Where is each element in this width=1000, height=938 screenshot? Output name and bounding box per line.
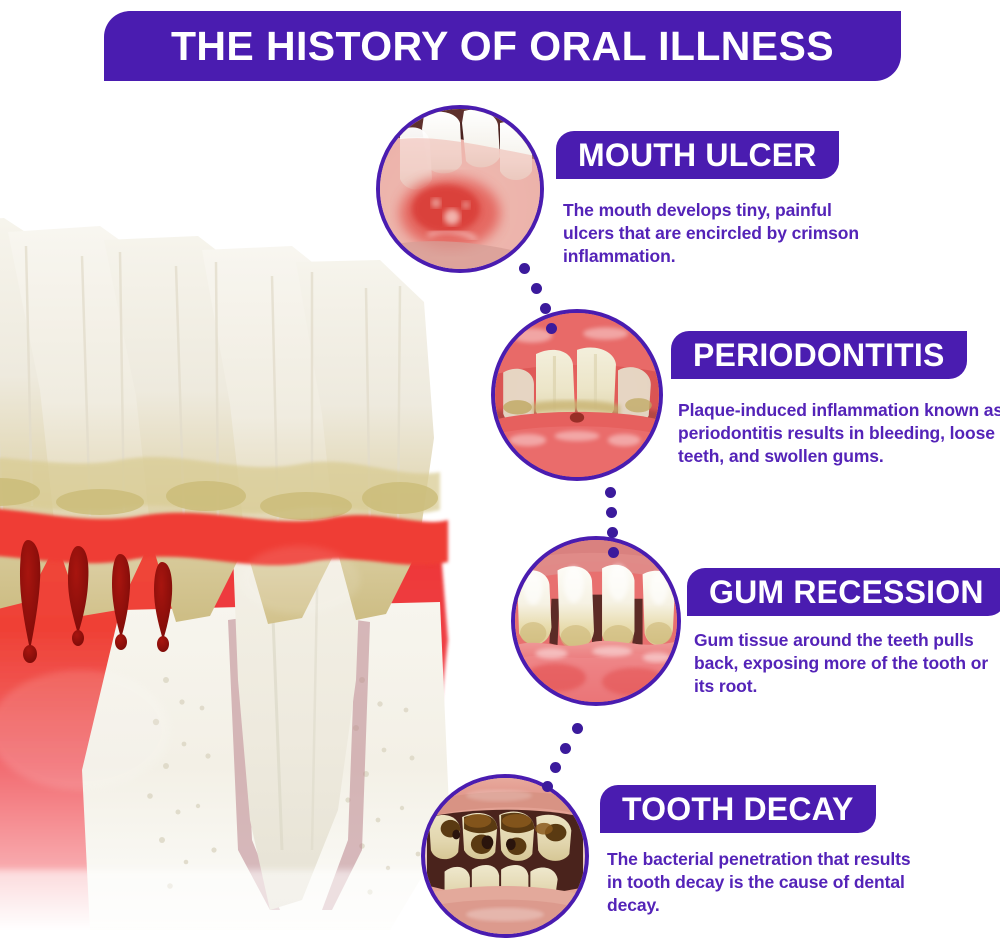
main-dental-illustration [0, 210, 470, 930]
description-gum-recession: Gum tissue around the teeth pulls back, … [694, 629, 1000, 698]
photo-tooth-decay[interactable] [421, 774, 589, 938]
label-text: MOUTH ULCER [578, 139, 817, 171]
connector-dot [519, 263, 530, 274]
connector-dot [572, 723, 583, 734]
photo-gum-recession[interactable] [511, 536, 681, 706]
description-periodontitis: Plaque-induced inflammation known as per… [678, 399, 1000, 468]
label-mouth-ulcer[interactable]: MOUTH ULCER [556, 131, 839, 179]
label-text: PERIODONTITIS [693, 339, 945, 371]
connector-dot [531, 283, 542, 294]
connector-dot [605, 487, 616, 498]
label-text: TOOTH DECAY [622, 793, 854, 825]
infographic-root: THE HISTORY OF ORAL ILLNESS MOUTH ULCER … [0, 0, 1000, 938]
label-periodontitis[interactable]: PERIODONTITIS [671, 331, 967, 379]
label-tooth-decay[interactable]: TOOTH DECAY [600, 785, 876, 833]
photo-periodontitis[interactable] [491, 309, 663, 481]
description-mouth-ulcer: The mouth develops tiny, painful ulcers … [563, 199, 873, 268]
connector-dot [608, 547, 619, 558]
title-banner: THE HISTORY OF ORAL ILLNESS [104, 11, 901, 81]
connector-dot [540, 303, 551, 314]
page-title: THE HISTORY OF ORAL ILLNESS [171, 26, 834, 67]
connector-dot [550, 762, 561, 773]
photo-mouth-ulcer[interactable] [376, 105, 544, 273]
connector-dot [607, 527, 618, 538]
connector-dot [542, 781, 553, 792]
connector-dot [546, 323, 557, 334]
label-gum-recession[interactable]: GUM RECESSION [687, 568, 1000, 616]
connector-dot [560, 743, 571, 754]
description-tooth-decay: The bacterial penetration that results i… [607, 848, 929, 917]
connector-dot [606, 507, 617, 518]
label-text: GUM RECESSION [709, 576, 984, 608]
